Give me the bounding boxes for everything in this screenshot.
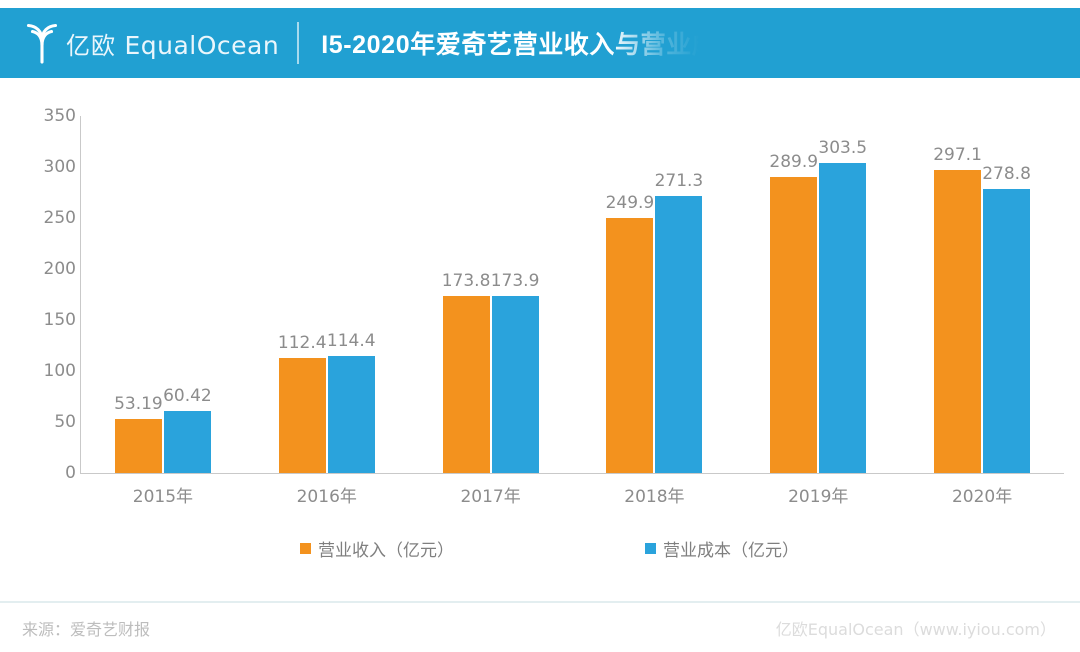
- bar-cost[interactable]: 303.5: [819, 163, 866, 473]
- bar-cost[interactable]: 271.3: [655, 196, 702, 473]
- x-axis-line: [80, 473, 1064, 474]
- bar-group: 289.9303.5: [736, 116, 900, 473]
- y-axis-tick-label: 100: [44, 361, 76, 381]
- legend-item-revenue[interactable]: 营业收入（亿元）: [300, 536, 454, 561]
- brand-logo-text: 亿欧 EqualOcean: [66, 26, 279, 61]
- brand-logo-text-cn: 亿欧: [66, 32, 116, 60]
- bar-cost[interactable]: 173.9: [492, 296, 539, 473]
- bar-value-label: 249.9: [606, 193, 655, 213]
- x-axis-tick-labels: 2015年2016年2017年2018年2019年2020年: [81, 482, 1064, 512]
- brand-logo-text-en: EqualOcean: [124, 31, 279, 60]
- bar-value-label: 173.9: [491, 271, 540, 291]
- x-axis-tick-label: 2019年: [788, 482, 848, 507]
- bar-value-label: 112.4: [278, 333, 327, 353]
- bar-value-label: 114.4: [327, 331, 376, 351]
- page-title: I5-2020年爱奇艺营业收入与营业成本对比: [321, 25, 794, 61]
- brand-logo: 亿欧 EqualOcean: [0, 22, 279, 64]
- bar-group: 297.1278.8: [900, 116, 1064, 473]
- x-axis-tick-label: 2016年: [297, 482, 357, 507]
- header-banner: 亿欧 EqualOcean I5-2020年爱奇艺营业收入与营业成本对比: [0, 8, 1080, 78]
- x-axis-tick-label: 2015年: [133, 482, 193, 507]
- y-axis-tick-label: 0: [65, 463, 76, 483]
- y-axis-tick-label: 250: [44, 208, 76, 228]
- bar-value-label: 53.19: [114, 394, 163, 414]
- y-axis-tick-label: 150: [44, 310, 76, 330]
- bar-cost[interactable]: 278.8: [983, 189, 1030, 473]
- bar-value-label: 278.8: [982, 164, 1031, 184]
- attribution-note: 亿欧EqualOcean（www.iyiou.com）: [776, 616, 1056, 640]
- chart-legend: 营业收入（亿元）营业成本（亿元）: [0, 536, 1080, 566]
- legend-label: 营业收入（亿元）: [318, 536, 454, 561]
- bar-value-label: 297.1: [933, 145, 982, 165]
- bar-group: 112.4114.4: [245, 116, 409, 473]
- y-axis-tick-label: 200: [44, 259, 76, 279]
- header-divider: [297, 22, 299, 64]
- y-axis-tick-label: 350: [44, 106, 76, 126]
- bar-revenue[interactable]: 173.8: [443, 296, 490, 473]
- plot-bars: 53.1960.42112.4114.4173.8173.9249.9271.3…: [81, 116, 1064, 473]
- footer: 来源：爱奇艺财报 亿欧EqualOcean（www.iyiou.com）: [0, 603, 1080, 652]
- bar-revenue[interactable]: 249.9: [606, 218, 653, 473]
- legend-label: 营业成本（亿元）: [663, 536, 799, 561]
- x-axis-tick-label: 2017年: [460, 482, 520, 507]
- x-axis-tick-label: 2020年: [952, 482, 1012, 507]
- bar-group: 249.9271.3: [573, 116, 737, 473]
- bar-value-label: 271.3: [655, 171, 704, 191]
- bar-value-label: 303.5: [818, 138, 867, 158]
- y-axis-tick-label: 50: [54, 412, 76, 432]
- bar-cost[interactable]: 60.42: [164, 411, 211, 473]
- y-axis-tick-label: 300: [44, 157, 76, 177]
- bar-revenue[interactable]: 53.19: [115, 419, 162, 473]
- y-axis-tick-labels: 050100150200250300350: [30, 108, 76, 480]
- bar-cost[interactable]: 114.4: [328, 356, 375, 473]
- bar-value-label: 60.42: [163, 386, 212, 406]
- bar-revenue[interactable]: 297.1: [934, 170, 981, 473]
- legend-swatch-icon: [300, 543, 311, 554]
- bar-value-label: 173.8: [442, 271, 491, 291]
- x-axis-tick-label: 2018年: [624, 482, 684, 507]
- bar-revenue[interactable]: 289.9: [770, 177, 817, 473]
- source-note: 来源：爱奇艺财报: [22, 616, 150, 640]
- chart-page: 亿欧 EqualOcean I5-2020年爱奇艺营业收入与营业成本对比 050…: [0, 0, 1080, 652]
- legend-swatch-icon: [645, 543, 656, 554]
- legend-item-cost[interactable]: 营业成本（亿元）: [645, 536, 799, 561]
- bar-value-label: 289.9: [769, 152, 818, 172]
- bar-group: 53.1960.42: [81, 116, 245, 473]
- equalocean-tree-logo-icon: [22, 22, 62, 64]
- bar-group: 173.8173.9: [409, 116, 573, 473]
- bar-revenue[interactable]: 112.4: [279, 358, 326, 473]
